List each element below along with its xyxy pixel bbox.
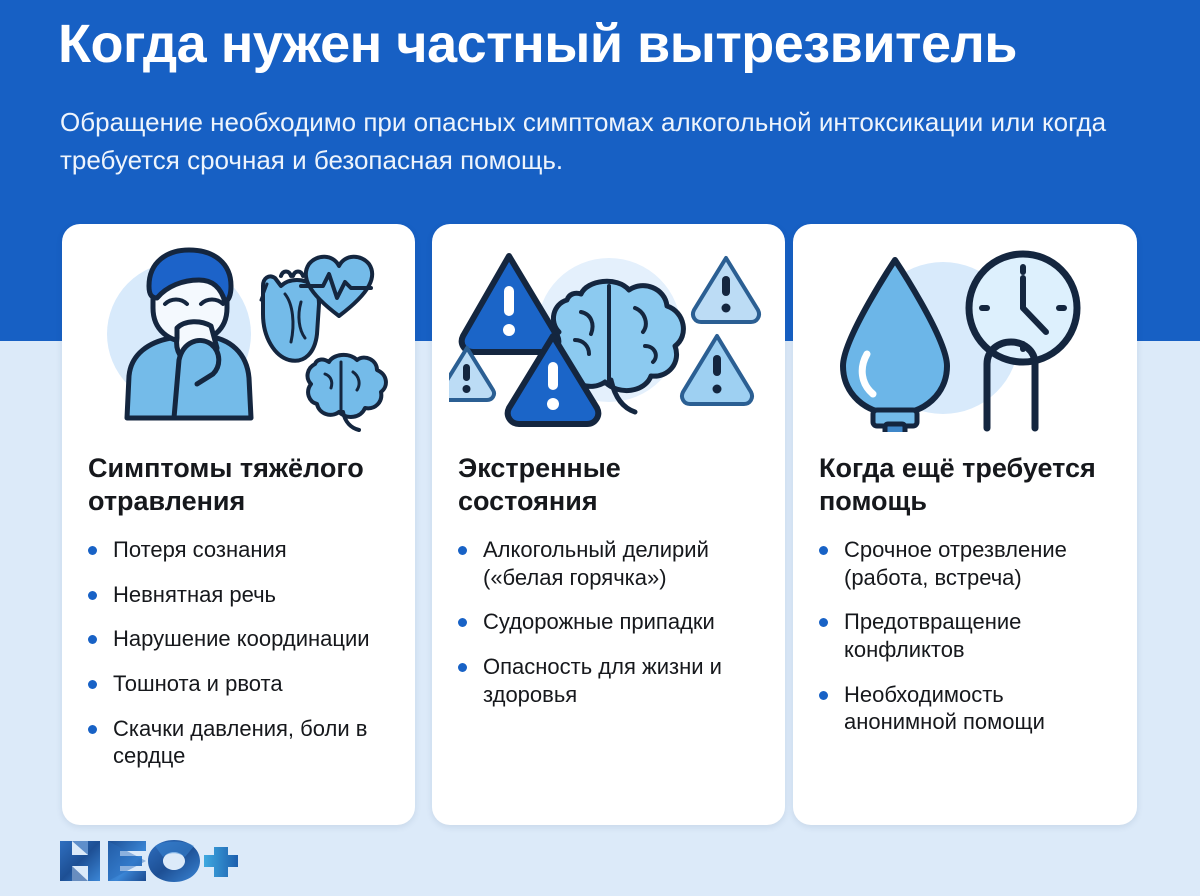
card-1-illustration <box>62 242 415 438</box>
infographic-page: Когда нужен частный вытрезвитель Обращен… <box>0 0 1200 896</box>
list-item: Невнятная речь <box>88 581 393 609</box>
card-other-help[interactable]: Когда ещё требуется помощь Срочное отрез… <box>793 224 1137 825</box>
card-2-bullet-list: Алкогольный делирий («белая горячка») Су… <box>458 536 763 709</box>
list-item-label: Нарушение координации <box>113 626 370 651</box>
list-item-label: Потеря сознания <box>113 537 287 562</box>
card-3-bullet-list: Срочное отрезвление (работа, встреча) Пр… <box>819 536 1115 736</box>
list-item: Предотвращение конфликтов <box>819 608 1115 663</box>
bullet-dot-icon <box>88 635 97 644</box>
bullet-dot-icon <box>88 591 97 600</box>
card-1-bullet-list: Потеря сознания Невнятная речь Нарушение… <box>88 536 393 770</box>
card-title: Когда ещё требуется помощь <box>819 452 1111 518</box>
list-item-label: Невнятная речь <box>113 582 276 607</box>
list-item: Скачки давления, боли в сердце <box>88 715 393 770</box>
list-item-label: Необходимость анонимной помощи <box>844 682 1045 735</box>
card-emergency-states[interactable]: Экстренные состояния Алкогольный делирий… <box>432 224 785 825</box>
list-item-label: Опасность для жизни и здоровья <box>483 654 722 707</box>
card-title: Симптомы тяжёлого отравления <box>88 452 389 518</box>
card-severe-poisoning[interactable]: Симптомы тяжёлого отравления Потеря созн… <box>62 224 415 825</box>
iv-drip-clock-illustration <box>815 242 1115 432</box>
bullet-dot-icon <box>819 691 828 700</box>
cards-container: Симптомы тяжёлого отравления Потеря созн… <box>0 0 1200 896</box>
list-item: Судорожные припадки <box>458 608 763 636</box>
list-item-label: Судорожные припадки <box>483 609 715 634</box>
neo-plus-logo-mark <box>58 837 238 883</box>
neo-plus-logo <box>58 838 238 882</box>
sick-man-with-organs-illustration <box>79 242 399 432</box>
list-item-label: Предотвращение конфликтов <box>844 609 1021 662</box>
brain-with-warnings-illustration <box>449 242 769 432</box>
card-title: Экстренные состояния <box>458 452 759 518</box>
list-item: Срочное отрезвление (работа, встреча) <box>819 536 1115 591</box>
list-item-label: Срочное отрезвление (работа, встреча) <box>844 537 1067 590</box>
warning-triangle-icon <box>692 258 758 322</box>
list-item: Нарушение координации <box>88 625 393 653</box>
bullet-dot-icon <box>458 618 467 627</box>
bullet-dot-icon <box>819 546 828 555</box>
list-item: Необходимость анонимной помощи <box>819 681 1115 736</box>
list-item-label: Алкогольный делирий («белая горячка») <box>483 537 709 590</box>
list-item: Тошнота и рвота <box>88 670 393 698</box>
bullet-dot-icon <box>458 663 467 672</box>
list-item: Потеря сознания <box>88 536 393 564</box>
warning-triangle-icon <box>449 348 494 400</box>
card-3-illustration <box>793 242 1137 438</box>
card-2-illustration <box>432 242 785 438</box>
bullet-dot-icon <box>458 546 467 555</box>
list-item-label: Тошнота и рвота <box>113 671 283 696</box>
bullet-dot-icon <box>88 725 97 734</box>
list-item: Алкогольный делирий («белая горячка») <box>458 536 763 591</box>
brain-icon <box>307 355 385 430</box>
bullet-dot-icon <box>88 546 97 555</box>
list-item-label: Скачки давления, боли в сердце <box>113 716 367 769</box>
warning-triangle-icon <box>681 336 751 404</box>
bullet-dot-icon <box>88 680 97 689</box>
bullet-dot-icon <box>819 618 828 627</box>
list-item: Опасность для жизни и здоровья <box>458 653 763 708</box>
